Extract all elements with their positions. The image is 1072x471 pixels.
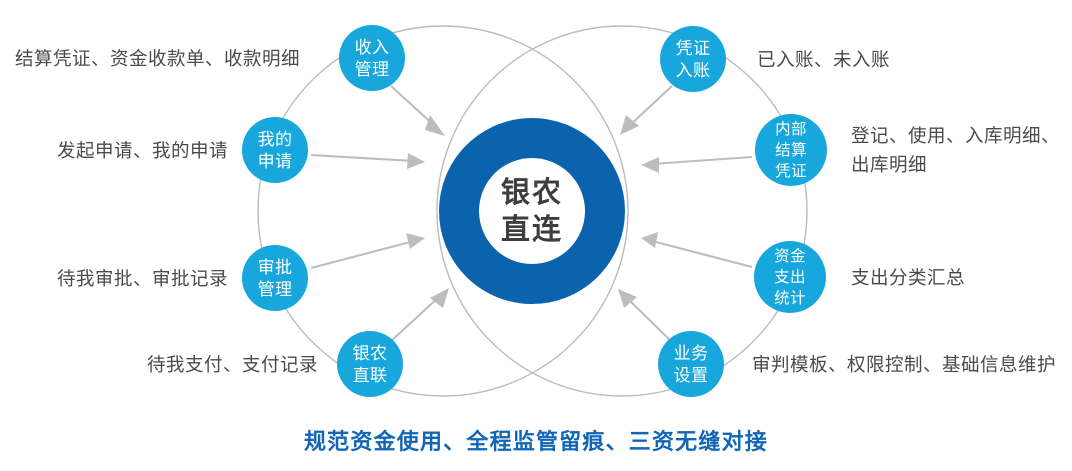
label-approval-management: 待我审批、审批记录 — [0, 264, 228, 293]
hub-ring — [459, 138, 605, 284]
node-label-line1: 内部 — [775, 120, 807, 138]
node-circle[interactable] — [658, 331, 724, 397]
node-circle[interactable] — [242, 117, 308, 183]
node-label-line2: 入账 — [676, 61, 711, 80]
arrow-income-management — [391, 86, 445, 136]
arrow-internal-settlement-voucher — [641, 157, 752, 173]
node-label-line2: 管理 — [258, 280, 293, 299]
node-approval-management[interactable]: 审批 管理 — [242, 245, 308, 311]
arrow-business-settings — [618, 289, 672, 342]
node-label-line1: 我的 — [258, 130, 293, 149]
node-label-line1: 业务 — [674, 344, 709, 363]
hub-label-line2: 直连 — [501, 213, 563, 246]
node-voucher-entry[interactable]: 凭证 入账 — [660, 26, 726, 92]
label-line: 已入账、未入账 — [757, 45, 1057, 74]
label-income-management: 结算凭证、资金收款单、收款明细 — [0, 44, 300, 73]
arrow-fund-expenditure-statistics — [641, 232, 752, 267]
node-income-management[interactable]: 收入 管理 — [339, 25, 405, 91]
node-label-line2: 支出 — [774, 268, 806, 286]
node-label-line1: 银农 — [353, 344, 388, 363]
label-line: 待我审批、审批记录 — [0, 264, 228, 293]
arrow-bank-farmer-direct — [390, 288, 449, 342]
node-label-line1: 凭证 — [676, 39, 711, 58]
label-line: 登记、使用、入库明细、 — [851, 121, 1071, 150]
label-line: 出库明细 — [851, 150, 1071, 179]
label-line: 结算凭证、资金收款单、收款明细 — [0, 44, 300, 73]
label-business-settings: 审判模板、权限控制、基础信息维护 — [752, 350, 1072, 379]
node-label-line2: 管理 — [355, 60, 390, 79]
venn-background — [258, 26, 807, 396]
node-internal-settlement-voucher[interactable]: 内部 结算 凭证 — [755, 114, 827, 186]
label-line: 发起申请、我的申请 — [0, 136, 228, 165]
label-voucher-entry: 已入账、未入账 — [757, 45, 1057, 74]
label-internal-settlement-voucher: 登记、使用、入库明细、 出库明细 — [851, 121, 1071, 179]
node-label-line3: 统计 — [774, 289, 806, 307]
node-label-line1: 资金 — [774, 247, 806, 265]
label-my-application: 发起申请、我的申请 — [0, 136, 228, 165]
label-fund-expenditure-statistics: 支出分类汇总 — [851, 263, 1071, 292]
label-bank-farmer-direct: 待我支付、支付记录 — [90, 350, 318, 379]
arrow-approval-management — [311, 233, 425, 268]
node-fund-expenditure-statistics[interactable]: 资金 支出 统计 — [754, 241, 826, 313]
hub: 银农 直连 — [459, 138, 605, 284]
node-my-application[interactable]: 我的 申请 — [242, 117, 308, 183]
node-circle[interactable] — [337, 331, 403, 397]
hub-label-line1: 银农 — [501, 176, 563, 209]
node-label-line1: 收入 — [355, 38, 390, 57]
label-line: 支出分类汇总 — [851, 263, 1071, 292]
node-business-settings[interactable]: 业务 设置 — [658, 331, 724, 397]
node-label-line2: 结算 — [775, 140, 807, 159]
node-bank-farmer-direct[interactable]: 银农 直联 — [337, 331, 403, 397]
diagram-caption: 规范资金使用、全程监管留痕、三资无缝对接 — [0, 424, 1072, 456]
label-line: 待我支付、支付记录 — [90, 350, 318, 379]
arrow-my-application — [311, 153, 425, 169]
node-label-line2: 直联 — [353, 366, 388, 385]
node-label-line2: 申请 — [258, 152, 293, 171]
diagram-root: 银农 直连 收入 管理 我的 申请 审批 管理 银农 直联 凭证 入账 — [0, 0, 1072, 471]
node-label-line2: 设置 — [674, 366, 709, 385]
node-circle[interactable] — [339, 25, 405, 91]
label-line: 审判模板、权限控制、基础信息维护 — [752, 350, 1072, 379]
node-label-line3: 凭证 — [775, 162, 807, 180]
node-label-line1: 审批 — [258, 258, 293, 277]
arrow-voucher-entry — [620, 86, 672, 135]
node-circle[interactable] — [242, 245, 308, 311]
node-circle[interactable] — [660, 26, 726, 92]
